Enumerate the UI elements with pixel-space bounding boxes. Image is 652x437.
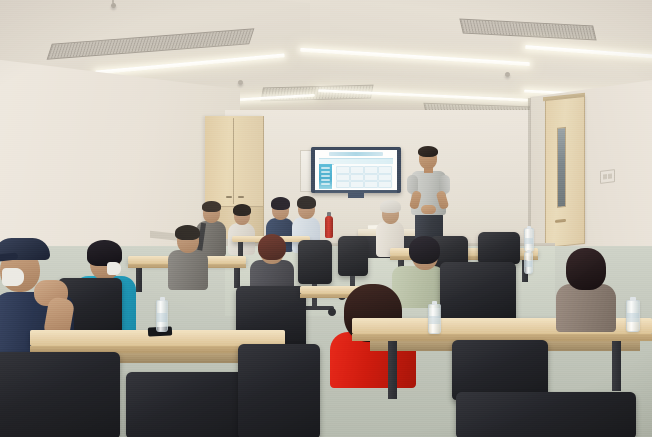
desk-leg bbox=[234, 268, 240, 288]
water-bottle[interactable] bbox=[626, 300, 640, 332]
classroom-scene bbox=[0, 0, 652, 437]
sprinkler-head bbox=[505, 72, 510, 77]
water-bottle[interactable] bbox=[428, 304, 441, 334]
office-chair[interactable] bbox=[452, 340, 548, 400]
office-chair[interactable] bbox=[478, 232, 520, 264]
slide-data-grid bbox=[334, 164, 393, 189]
presentation-screen[interactable] bbox=[311, 147, 401, 193]
slide-title-bar bbox=[329, 152, 383, 156]
office-chair[interactable] bbox=[0, 352, 120, 437]
water-bottle[interactable] bbox=[524, 228, 534, 252]
room-door[interactable] bbox=[545, 96, 585, 248]
cabinet-door-seam bbox=[233, 118, 234, 204]
sprinkler-head bbox=[238, 80, 243, 85]
slide-sidebar-nav bbox=[319, 164, 332, 189]
cabinet-handle[interactable] bbox=[226, 196, 232, 198]
office-chair[interactable] bbox=[238, 344, 320, 437]
office-chair[interactable] bbox=[126, 372, 256, 437]
presenter-hands bbox=[421, 205, 436, 214]
light-switch-plate[interactable] bbox=[600, 169, 615, 184]
attendee-gray-seated bbox=[168, 228, 208, 288]
cabinet-handle[interactable] bbox=[238, 196, 244, 198]
face-mask bbox=[107, 262, 121, 275]
water-bottle[interactable] bbox=[156, 300, 168, 332]
desk-leg bbox=[612, 341, 621, 391]
office-chair[interactable] bbox=[440, 262, 516, 324]
door-handle[interactable] bbox=[555, 219, 566, 223]
fire-extinguisher bbox=[325, 216, 333, 238]
screen-surface bbox=[315, 150, 397, 190]
office-chair[interactable] bbox=[298, 240, 332, 284]
sprinkler-head bbox=[111, 3, 116, 8]
office-chair[interactable] bbox=[456, 392, 636, 437]
desk-leg bbox=[388, 341, 397, 399]
face-mask bbox=[2, 268, 24, 286]
desk-leg bbox=[136, 268, 142, 292]
water-bottle[interactable] bbox=[524, 252, 533, 274]
cabinet-upper-doors[interactable] bbox=[205, 116, 263, 207]
office-chair[interactable] bbox=[338, 236, 368, 276]
presenter-hair bbox=[418, 146, 438, 157]
attendee-far-right bbox=[556, 250, 616, 330]
screen-wall-mount bbox=[348, 193, 364, 198]
door-vision-panel bbox=[557, 127, 566, 208]
desk-leg bbox=[238, 242, 243, 256]
